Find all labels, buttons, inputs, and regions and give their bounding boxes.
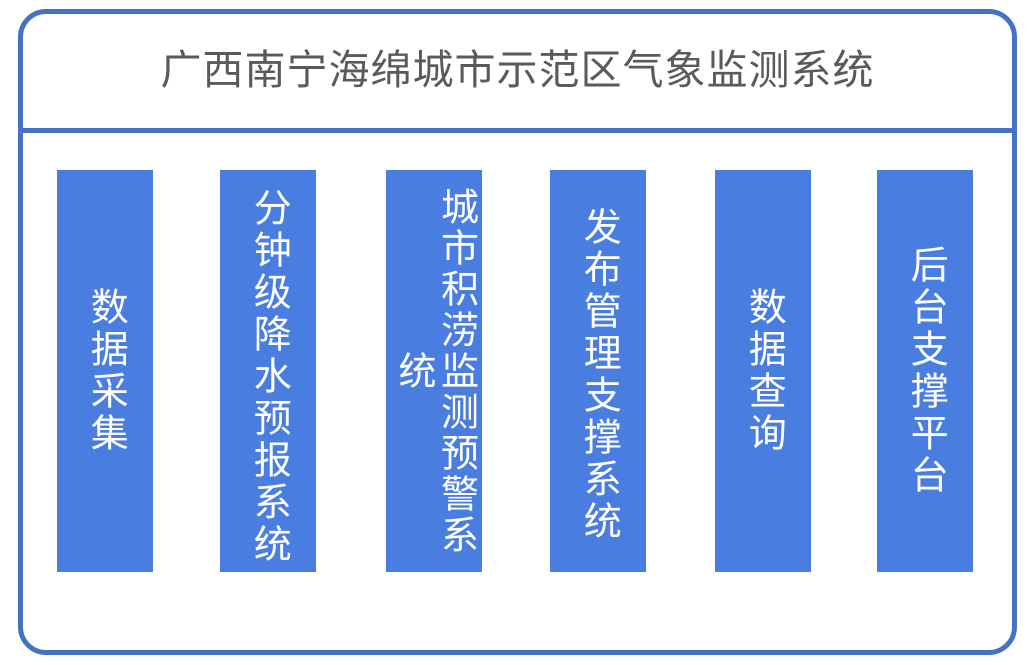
pillar-label: 分钟级降水预报系统	[247, 170, 290, 572]
pillar-label: 数据采集	[84, 170, 127, 572]
pillar-urban-waterlogging-warning[interactable]: 城市积涝监测预警系统	[386, 170, 482, 572]
pillar-label: 发布管理支撑系统	[577, 170, 620, 572]
pillar-label: 后台支撑平台	[904, 170, 947, 572]
header-band: 广西南宁海绵城市示范区气象监测系统	[18, 9, 1017, 132]
pillar-minute-precip-forecast[interactable]: 分钟级降水预报系统	[220, 170, 316, 572]
pillar-release-management-support[interactable]: 发布管理支撑系统	[550, 170, 646, 572]
pillar-backend-support-platform[interactable]: 后台支撑平台	[877, 170, 973, 572]
pillars-row: 数据采集 分钟级降水预报系统 城市积涝监测预警系统 发布管理支撑系统 数据查询 …	[18, 133, 1017, 655]
pillar-data-collection[interactable]: 数据采集	[57, 170, 153, 572]
pillar-label: 城市积涝监测预警系统	[391, 170, 476, 572]
pillar-label: 数据查询	[742, 170, 785, 572]
diagram-canvas: 广西南宁海绵城市示范区气象监测系统 数据采集 分钟级降水预报系统 城市积涝监测预…	[0, 0, 1034, 665]
page-title: 广西南宁海绵城市示范区气象监测系统	[161, 48, 875, 93]
pillar-data-query[interactable]: 数据查询	[715, 170, 811, 572]
